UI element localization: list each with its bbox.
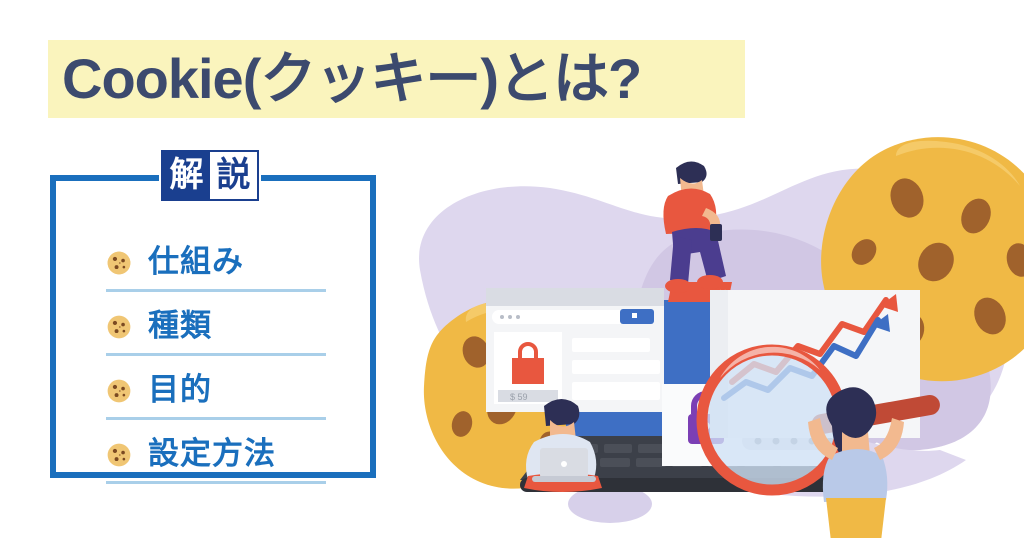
poster-canvas: Cookie(クッキー)とは? 解 説 仕組み [0, 0, 1024, 538]
badge-char-kai: 解 [163, 152, 210, 199]
skirt [826, 498, 886, 538]
cookie-privacy-illustration: $ 59 ✕ [380, 120, 1024, 538]
kaisetsu-badge: 解 説 [161, 150, 259, 201]
cookie-icon [106, 378, 132, 404]
shoe [665, 279, 691, 293]
phone [710, 224, 722, 241]
list-item-label: 設定方法 [148, 428, 276, 473]
list-item[interactable]: 仕組み [106, 232, 326, 292]
list-item[interactable]: 目的 [106, 360, 326, 420]
cookie-icon [106, 314, 132, 340]
cookie-icon [106, 250, 132, 276]
list-item[interactable]: 種類 [106, 296, 326, 356]
list-item-label: 目的 [148, 364, 212, 409]
list-item-label: 種類 [148, 300, 212, 345]
page-title: Cookie(クッキー)とは? [62, 40, 762, 118]
hair [544, 399, 579, 426]
topic-list: 仕組み 種類 目的 [106, 232, 326, 488]
svg-text:$ 59: $ 59 [510, 392, 528, 402]
list-item[interactable]: 設定方法 [106, 424, 326, 484]
cookie-icon [106, 442, 132, 468]
list-item-label: 仕組み [148, 236, 244, 281]
badge-char-setsu: 説 [210, 152, 257, 199]
shoe [697, 275, 723, 289]
browser-window-card: $ 59 [486, 288, 664, 412]
